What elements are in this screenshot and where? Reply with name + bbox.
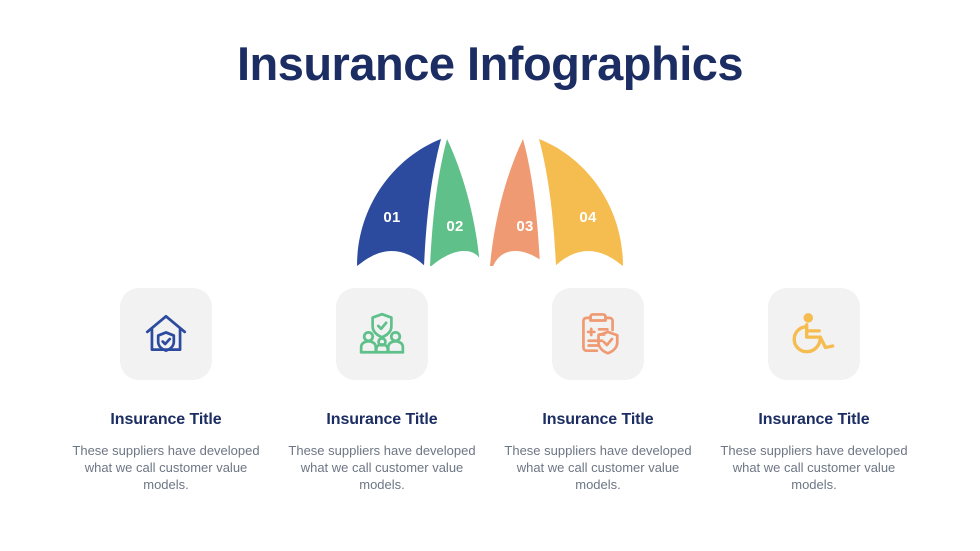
icon-tile-2[interactable] <box>336 288 428 380</box>
icon-tile-1[interactable] <box>120 288 212 380</box>
medical-clipboard-shield-icon <box>573 309 623 359</box>
column-title-2: Insurance Title <box>326 411 437 429</box>
umbrella-panel-02[interactable]: 02 <box>430 139 480 266</box>
column-description-3: These suppliers have developed what we c… <box>498 442 698 493</box>
umbrella-hem-scallops <box>340 251 640 285</box>
family-shield-icon <box>357 309 407 359</box>
feature-column-1: Insurance Title These suppliers have dev… <box>62 288 270 493</box>
column-description-2: These suppliers have developed what we c… <box>282 442 482 493</box>
column-title-1: Insurance Title <box>110 411 221 429</box>
column-description-1: These suppliers have developed what we c… <box>66 442 266 493</box>
umbrella-diagram: 01 02 03 04 <box>340 125 640 285</box>
feature-columns: Insurance Title These suppliers have dev… <box>0 288 980 493</box>
feature-column-2: Insurance Title These suppliers have dev… <box>278 288 486 493</box>
house-shield-icon <box>141 309 191 359</box>
slide-canvas: Insurance Infographics 01 02 03 04 <box>0 0 980 551</box>
umbrella-panel-01-number: 01 <box>383 209 400 226</box>
umbrella-panel-02-number: 02 <box>446 218 463 235</box>
umbrella-panel-04-number: 04 <box>579 209 597 226</box>
umbrella-panel-03-number: 03 <box>516 218 533 235</box>
feature-column-3: Insurance Title These suppliers have dev… <box>494 288 702 493</box>
feature-column-4: Insurance Title These suppliers have dev… <box>710 288 918 493</box>
icon-tile-4[interactable] <box>768 288 860 380</box>
page-title: Insurance Infographics <box>0 38 980 90</box>
umbrella-panel-04[interactable]: 04 <box>539 139 623 266</box>
umbrella-panel-03[interactable]: 03 <box>490 139 540 266</box>
column-description-4: These suppliers have developed what we c… <box>714 442 914 493</box>
wheelchair-accessibility-icon <box>789 309 839 359</box>
column-title-4: Insurance Title <box>758 411 869 429</box>
icon-tile-3[interactable] <box>552 288 644 380</box>
umbrella-panel-01[interactable]: 01 <box>357 139 441 266</box>
column-title-3: Insurance Title <box>542 411 653 429</box>
